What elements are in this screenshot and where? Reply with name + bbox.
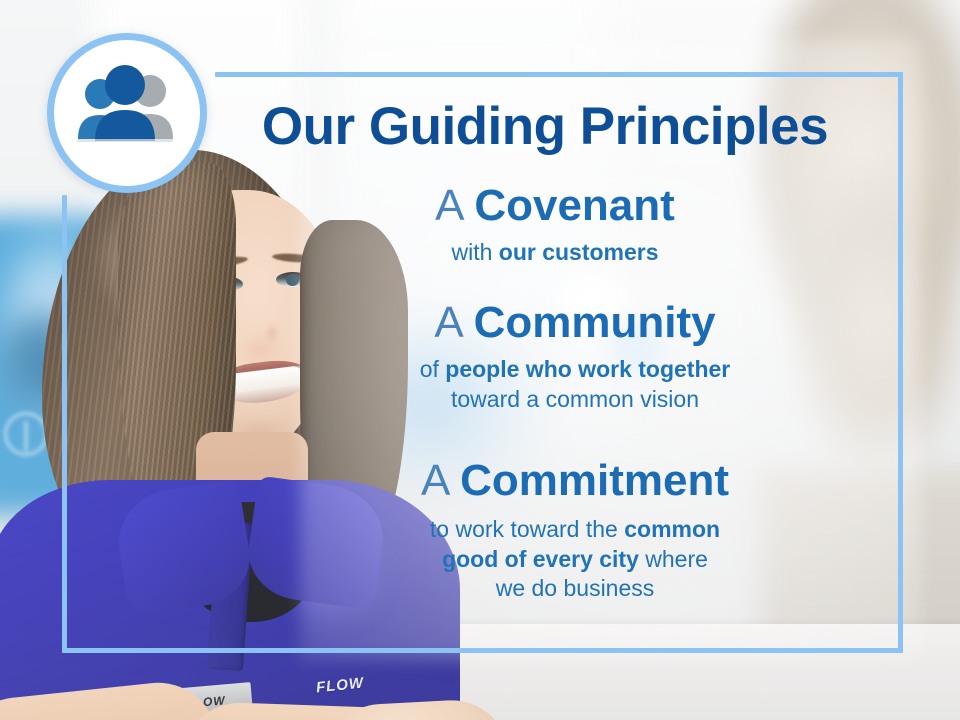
principle-subtext: of people who work togethertoward a comm…: [255, 355, 895, 415]
principle-subtext-line: good of every city where: [255, 545, 895, 575]
page-title: Our Guiding Principles: [215, 96, 875, 157]
principle-heading: A Community: [255, 300, 895, 347]
principle-heading: A Covenant: [235, 183, 875, 230]
plain-text: we do business: [496, 575, 655, 601]
principle-subtext-line: we do business: [255, 574, 895, 604]
principle-subtext-line: toward a common vision: [255, 385, 895, 415]
emphasis-text: good of every city: [442, 546, 639, 572]
principle-covenant: A Covenant with our customers: [235, 183, 875, 268]
principle-subtext: with our customers: [235, 238, 875, 268]
principle-article: A: [421, 456, 448, 505]
principle-keyword: Covenant: [474, 181, 674, 230]
principle-keyword: Community: [474, 298, 716, 347]
principle-subtext-line: of people who work together: [255, 355, 895, 385]
guiding-principles-graphic: FLOW FLOW: [0, 0, 960, 720]
principle-community: A Community of people who work togethert…: [255, 300, 895, 414]
principle-subtext-line: to work toward the common: [255, 515, 895, 545]
plain-text: toward a common vision: [451, 386, 699, 412]
principle-commitment: A Commitment to work toward the commongo…: [255, 458, 895, 604]
principle-article: A: [435, 181, 462, 230]
principle-subtext: to work toward the commongood of every c…: [255, 515, 895, 605]
emphasis-text: people who work together: [445, 356, 730, 382]
principle-keyword: Commitment: [460, 456, 729, 505]
plain-text: to work toward the: [430, 516, 624, 542]
plain-text: where: [639, 546, 708, 572]
plain-text: with: [451, 239, 498, 265]
text-content: Our Guiding Principles A Covenant with o…: [0, 0, 960, 720]
emphasis-text: common: [624, 516, 720, 542]
principle-subtext-line: with our customers: [235, 238, 875, 268]
principle-heading: A Commitment: [255, 458, 895, 505]
emphasis-text: our customers: [499, 239, 659, 265]
principle-article: A: [434, 298, 461, 347]
plain-text: of: [420, 356, 446, 382]
